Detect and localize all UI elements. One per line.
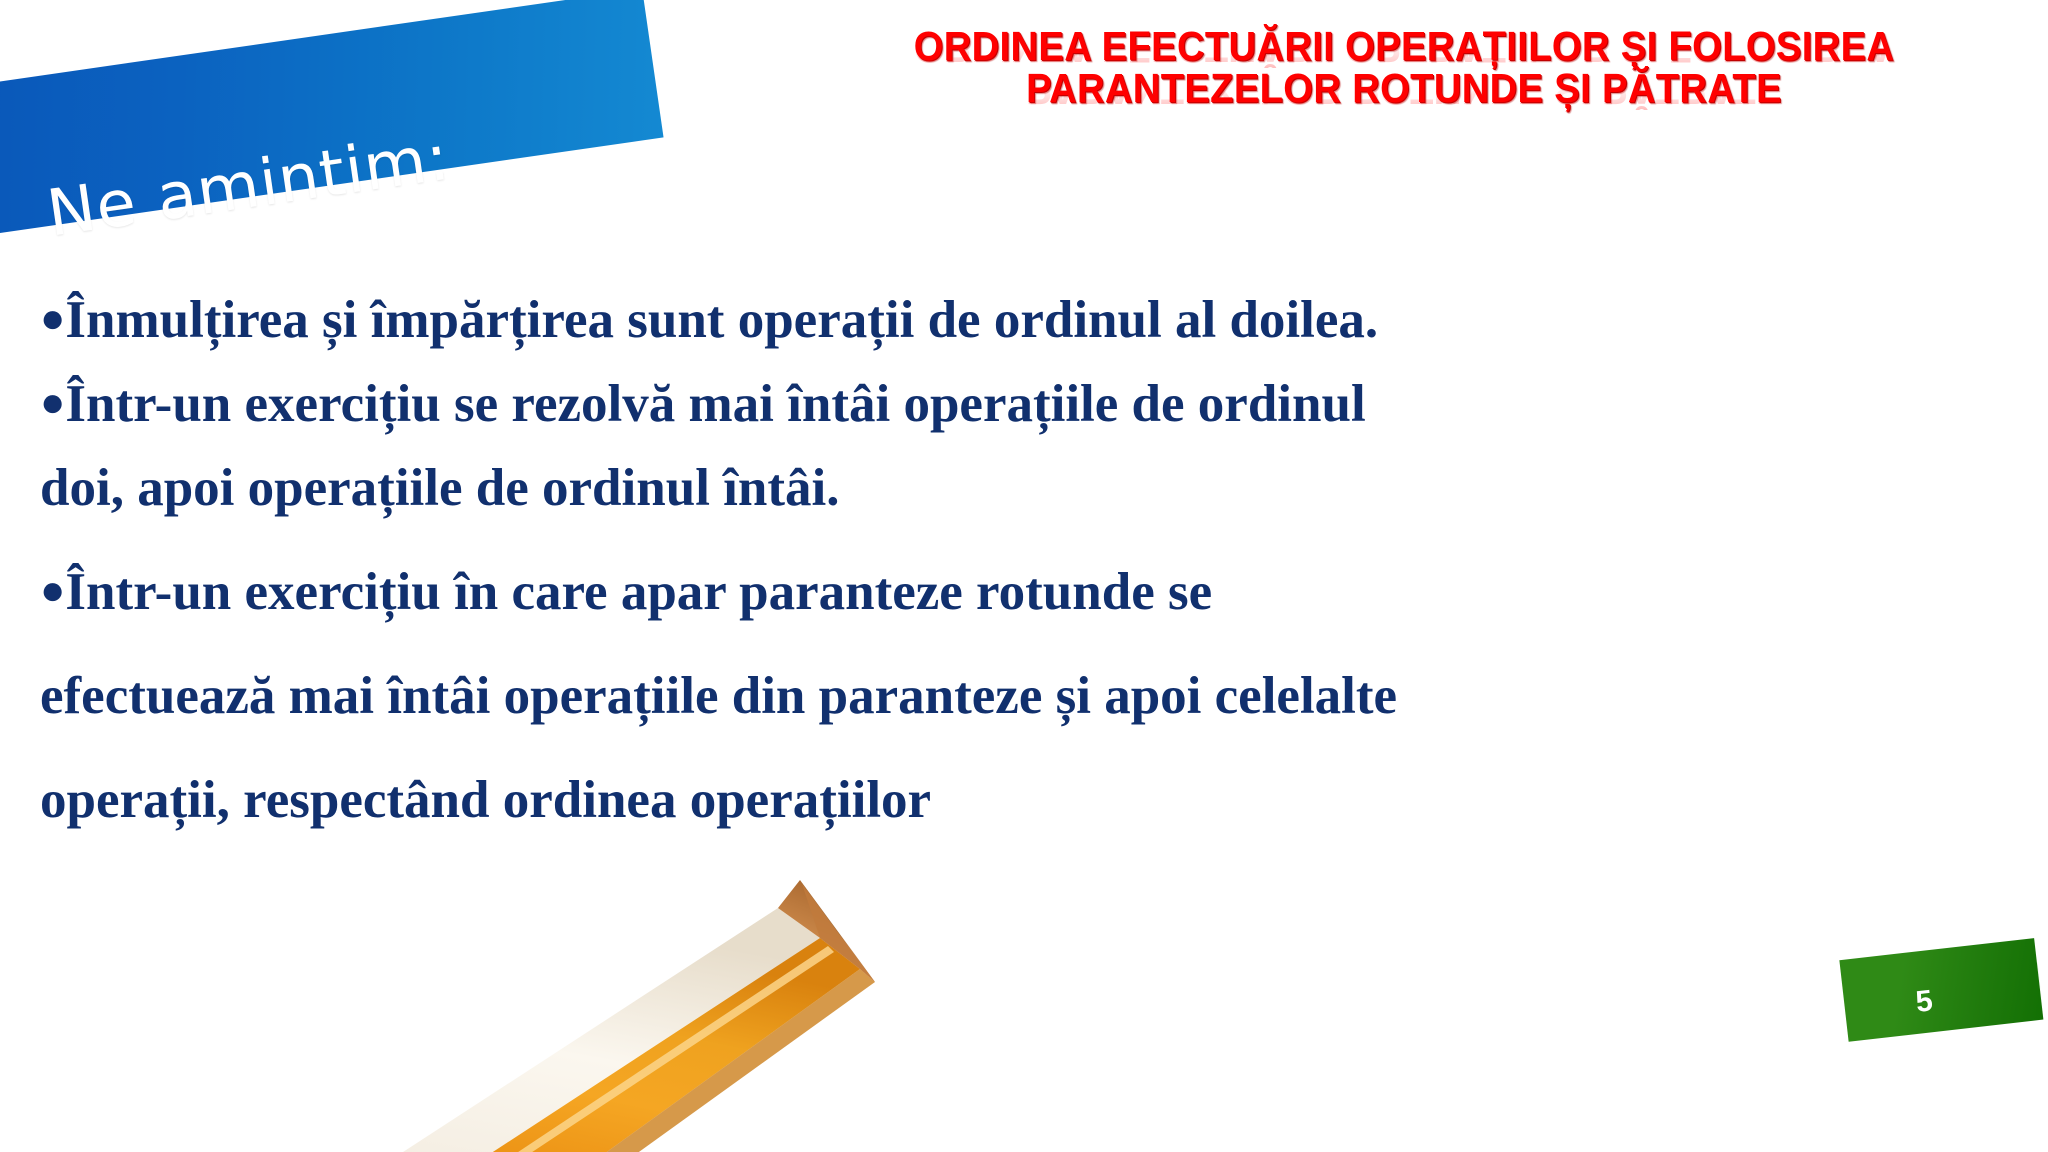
title-line-2-text: PARANTEZELOR ROTUNDE ȘI PĂTRATE: [1026, 65, 1782, 111]
bullet-icon: ●: [40, 568, 65, 614]
bullet-line-5: efectuează mai întâi operațiile din para…: [40, 654, 2030, 738]
bullet-line-6: operații, respectând ordinea operațiilor: [40, 758, 2030, 842]
slide-canvas: ORDINEA EFECTUĂRII OPERAȚIILOR ȘI FOLOSI…: [0, 0, 2048, 1152]
bullet-line-3: doi, apoi operațiile de ordinul întâi.: [40, 446, 2030, 530]
bullet-line-2: ●Într-un exercițiu se rezolvă mai întâi …: [40, 362, 2030, 446]
bullet-line-4-text: Într-un exercițiu în care apar paranteze…: [65, 563, 1212, 621]
bullet-line-1: ●Înmulțirea și împărțirea sunt operații …: [40, 278, 2030, 362]
bullet-line-5-text: efectuează mai întâi operațiile din para…: [40, 667, 1397, 725]
bullet-line-1-text: Înmulțirea și împărțirea sunt operații d…: [65, 291, 1378, 349]
bullet-line-4: ●Într-un exercițiu în care apar parantez…: [40, 550, 2030, 634]
title-line-1: ORDINEA EFECTUĂRII OPERAȚIILOR ȘI FOLOSI…: [805, 26, 2003, 68]
bullet-icon: ●: [40, 296, 65, 342]
bullet-line-3-text: doi, apoi operațiile de ordinul întâi.: [40, 459, 840, 517]
slide-title: ORDINEA EFECTUĂRII OPERAȚIILOR ȘI FOLOSI…: [760, 26, 2048, 110]
page-number-badge: 5: [1838, 948, 2048, 1148]
section-banner: Ne amintim:: [0, 60, 660, 310]
title-line-1-text: ORDINEA EFECTUĂRII OPERAȚIILOR ȘI FOLOSI…: [914, 23, 1895, 69]
bullet-icon: ●: [40, 380, 65, 426]
title-line-2: PARANTEZELOR ROTUNDE ȘI PĂTRATE PARANTEZ…: [805, 68, 2003, 110]
body-bullet-list: ●Înmulțirea și împărțirea sunt operații …: [40, 278, 2030, 842]
bullet-line-6-text: operații, respectând ordinea operațiilor: [40, 771, 931, 829]
bullet-line-2-text: Într-un exercițiu se rezolvă mai întâi o…: [65, 375, 1365, 433]
